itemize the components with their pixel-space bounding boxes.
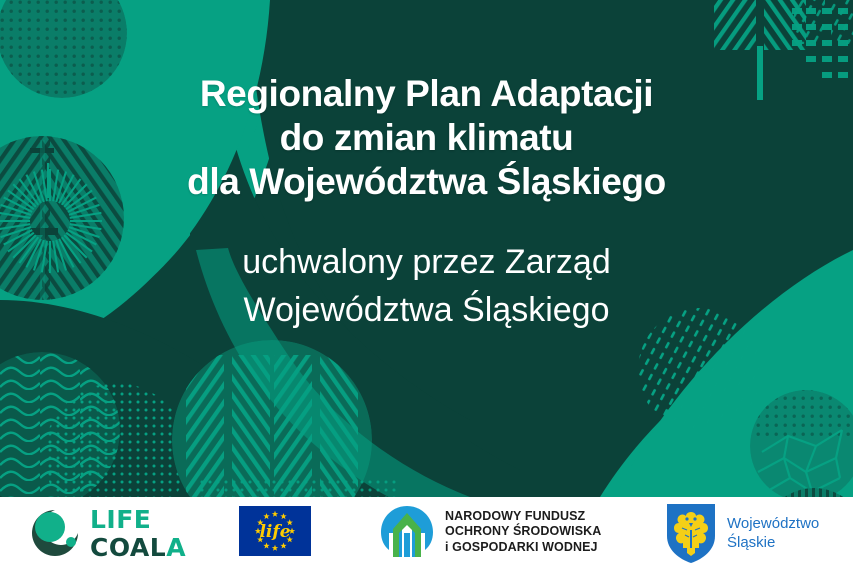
coala-word: COALA	[90, 535, 186, 560]
nfosigw-mark-icon	[378, 503, 436, 561]
footer-logo-bar: LIFE COALA	[0, 497, 853, 569]
nfos-line-1: NARODOWY FUNDUSZ	[445, 509, 601, 525]
life-word: LIFE	[90, 507, 186, 532]
nfos-line-2: OCHRONY ŚRODOWISKA	[445, 524, 601, 540]
life-coala-mark-icon	[26, 503, 84, 563]
eu-life-wordmark: life	[259, 522, 290, 542]
logo-eu-life: life	[239, 506, 311, 556]
woj-line-1: Województwo	[727, 514, 819, 533]
wojewodztwo-wordmark: Województwo Śląskie	[727, 514, 819, 552]
life-coala-wordmark: LIFE COALA	[90, 507, 186, 560]
decor-footer-dots	[200, 480, 400, 498]
logo-life-coala: LIFE COALA	[26, 503, 186, 563]
woj-line-2: Śląskie	[727, 533, 819, 552]
nfosigw-wordmark: NARODOWY FUNDUSZ OCHRONY ŚRODOWISKA i GO…	[445, 509, 601, 556]
logo-wojewodztwo-slaskie: Województwo Śląskie	[665, 502, 819, 564]
nfos-line-3: i GOSPODARKI WODNEJ	[445, 540, 601, 556]
decorative-background	[0, 0, 853, 569]
eu-flag-life-icon: life	[239, 506, 311, 556]
logo-nfosigw: NARODOWY FUNDUSZ OCHRONY ŚRODOWISKA i GO…	[378, 503, 601, 561]
silesian-coat-of-arms-icon	[665, 502, 717, 564]
slide-canvas: Regionalny Plan Adaptacji do zmian klima…	[0, 0, 853, 569]
